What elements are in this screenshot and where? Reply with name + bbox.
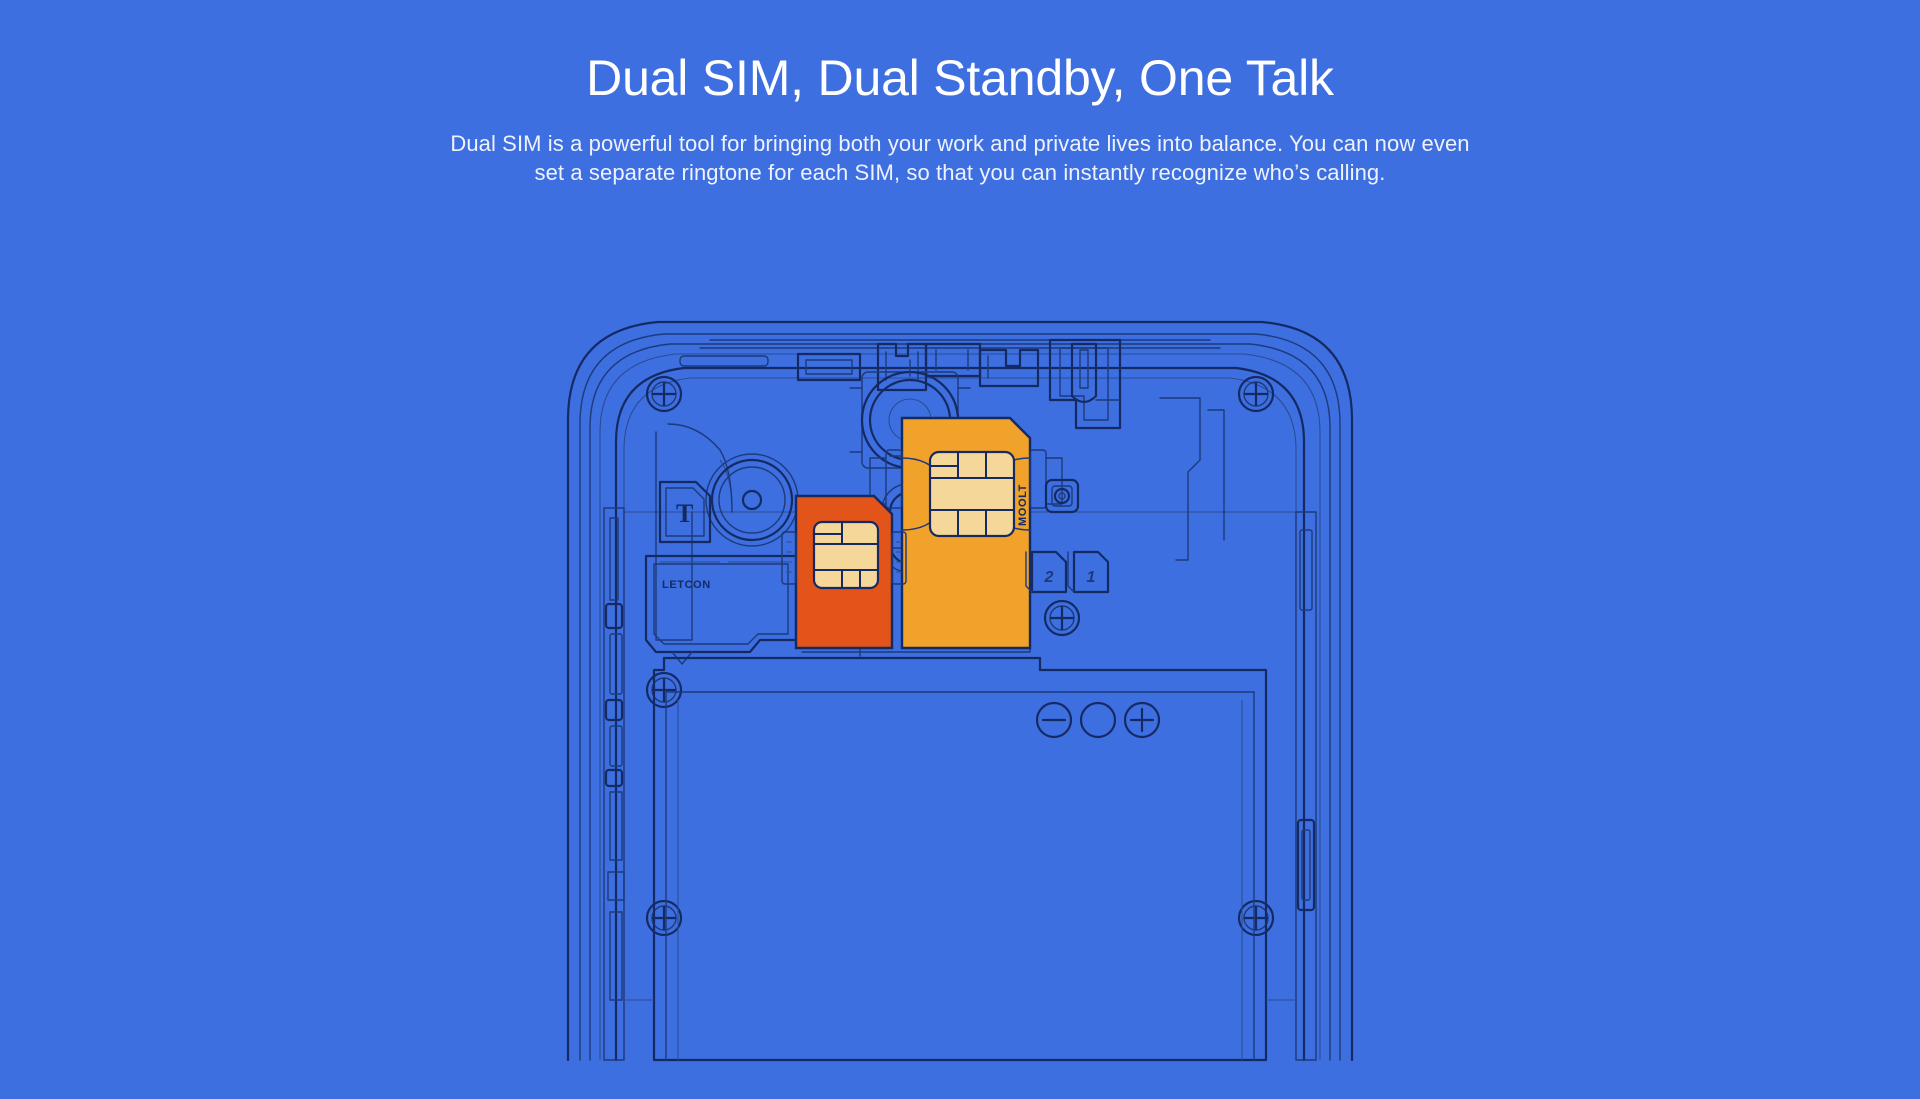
page-subtitle-line-1: Dual SIM is a powerful tool for bringing… bbox=[0, 129, 1920, 158]
screw-bottom-left bbox=[647, 901, 681, 935]
battery-terminal-positive bbox=[1125, 703, 1159, 737]
battery-compartment bbox=[654, 658, 1266, 1060]
headline-block: Dual SIM, Dual Standby, One Talk Dual SI… bbox=[0, 0, 1920, 187]
sim-chip-contacts-small bbox=[814, 522, 878, 588]
sim-icon-letter: T bbox=[676, 499, 694, 528]
connector-label: LETCON bbox=[662, 579, 711, 591]
battery-terminals bbox=[1037, 703, 1159, 737]
page-subtitle-line-2: set a separate ringtone for each SIM, so… bbox=[0, 158, 1920, 187]
sim-slot-label-2: 2 bbox=[1044, 569, 1054, 586]
sim-card-small[interactable] bbox=[782, 496, 906, 648]
screw-sim-area bbox=[1045, 601, 1079, 635]
screw-bottom-right bbox=[1239, 901, 1273, 935]
screw-top-right bbox=[1239, 377, 1273, 411]
page-title: Dual SIM, Dual Standby, One Talk bbox=[0, 52, 1920, 105]
letcon-connector: LETCON bbox=[646, 556, 820, 664]
side-button-rail bbox=[604, 508, 624, 1060]
sim-slot-marker-1: 1 bbox=[1068, 552, 1108, 592]
sim-card-brand-label: MOOLT bbox=[1017, 484, 1029, 526]
battery-terminal-blank bbox=[1081, 703, 1115, 737]
screw-mid-left bbox=[647, 673, 681, 707]
battery-terminal-negative bbox=[1037, 703, 1071, 737]
right-side-rail bbox=[1296, 512, 1316, 1060]
phone-back-illustration: T LETCON bbox=[560, 300, 1360, 1099]
sim-slot-markers: 2 1 bbox=[1026, 552, 1108, 635]
page-subtitle: Dual SIM is a powerful tool for bringing… bbox=[0, 105, 1920, 187]
screw-top-left bbox=[647, 377, 681, 411]
sim-card-large[interactable]: MOOLT bbox=[870, 418, 1062, 648]
sim-chip-contacts-large bbox=[930, 452, 1014, 536]
dual-sim-feature-page: Dual SIM, Dual Standby, One Talk Dual SI… bbox=[0, 0, 1920, 1099]
sim-slot-label-1: 1 bbox=[1087, 569, 1096, 586]
sim-slot-marker-2: 2 bbox=[1026, 552, 1066, 592]
device-illustration-stage: T LETCON bbox=[0, 300, 1920, 1099]
